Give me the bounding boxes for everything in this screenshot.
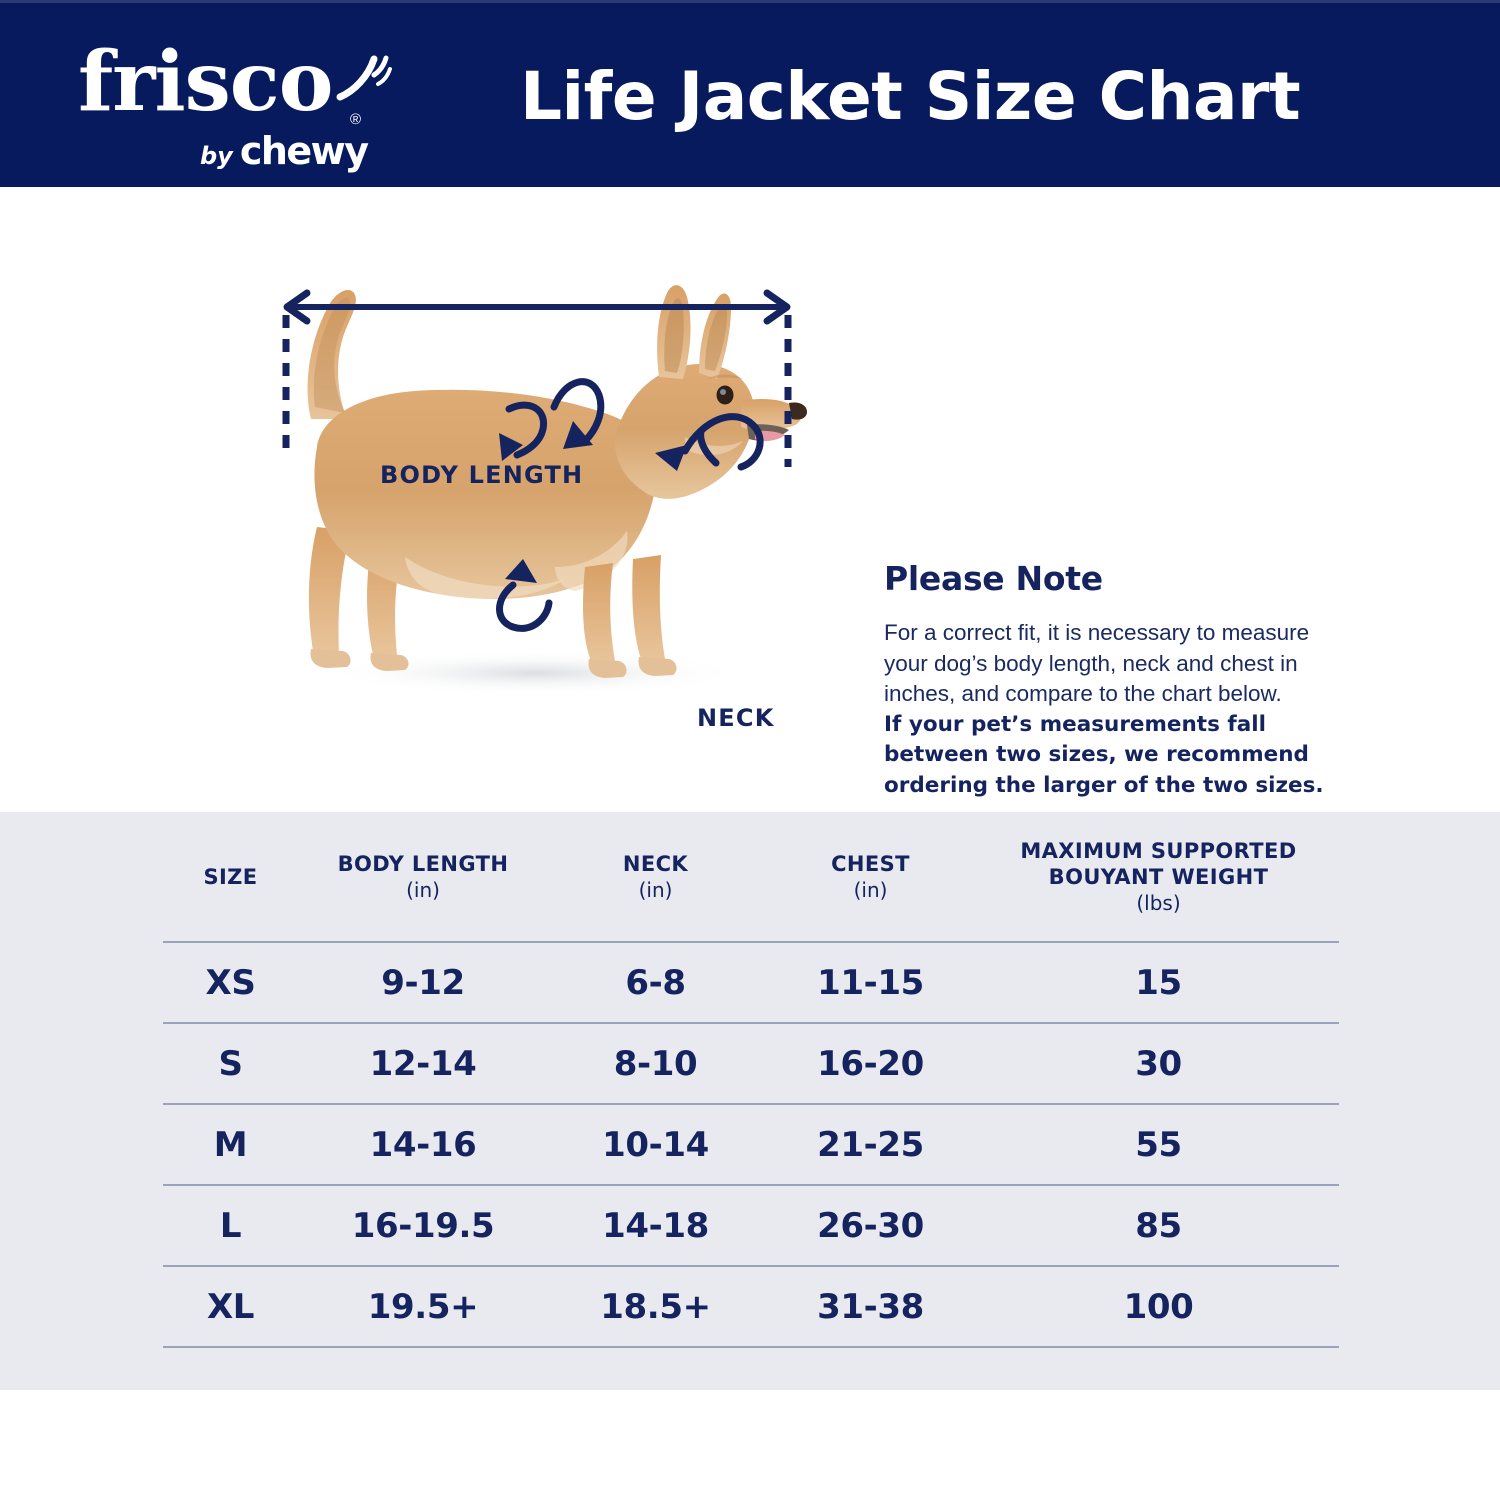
cell-chest: 21-25 — [763, 1104, 978, 1185]
logo-byline-prefix: by — [200, 142, 233, 170]
cell-body-length: 19.5+ — [298, 1266, 548, 1347]
logo-wordmark-text: frisco — [78, 39, 332, 125]
logo-tail-flourish-icon — [334, 51, 392, 103]
label-body-length: BODY LENGTH — [380, 461, 583, 489]
column-header-body-length: BODY LENGTH (in) — [298, 812, 548, 942]
size-table-body: XS 9-12 6-8 11-15 15 S 12-14 8-10 16-20 … — [163, 942, 1339, 1347]
column-header-size: SIZE — [163, 812, 298, 942]
cell-neck: 18.5+ — [548, 1266, 763, 1347]
logo-byline-brand: chewy — [240, 129, 368, 173]
table-row: XS 9-12 6-8 11-15 15 — [163, 942, 1339, 1023]
registered-trademark-icon: ® — [350, 111, 361, 128]
cell-body-length: 16-19.5 — [298, 1185, 548, 1266]
cell-body-length: 14-16 — [298, 1104, 548, 1185]
cell-body-length: 9-12 — [298, 942, 548, 1023]
column-header-max-weight-label: MAXIMUM SUPPORTED BOUYANT WEIGHT — [1020, 839, 1296, 889]
logo-byline: by chewy — [200, 129, 368, 173]
cell-size: S — [163, 1023, 298, 1104]
please-note-panel: Please Note For a correct fit, it is nec… — [884, 559, 1334, 801]
cell-max-weight: 100 — [978, 1266, 1339, 1347]
page-title: Life Jacket Size Chart — [520, 59, 1420, 135]
column-header-neck: NECK (in) — [548, 812, 763, 942]
cell-size: L — [163, 1185, 298, 1266]
please-note-heading: Please Note — [884, 559, 1334, 599]
column-header-max-weight: MAXIMUM SUPPORTED BOUYANT WEIGHT (lbs) — [978, 812, 1339, 942]
cell-chest: 11-15 — [763, 942, 978, 1023]
column-header-neck-unit: (in) — [552, 877, 759, 903]
cell-neck: 6-8 — [548, 942, 763, 1023]
size-chart-table: SIZE BODY LENGTH (in) NECK (in) CHEST (i… — [163, 812, 1339, 1348]
table-row: M 14-16 10-14 21-25 55 — [163, 1104, 1339, 1185]
table-row: S 12-14 8-10 16-20 30 — [163, 1023, 1339, 1104]
cell-chest: 31-38 — [763, 1266, 978, 1347]
dog-measurement-illustration — [255, 267, 815, 717]
table-header-row: SIZE BODY LENGTH (in) NECK (in) CHEST (i… — [163, 812, 1339, 942]
frisco-by-chewy-logo: frisco ® by chewy — [78, 39, 378, 169]
please-note-body: For a correct fit, it is necessary to me… — [884, 618, 1334, 801]
dog-diagram-svg — [255, 267, 815, 717]
cell-max-weight: 30 — [978, 1023, 1339, 1104]
cell-max-weight: 55 — [978, 1104, 1339, 1185]
cell-max-weight: 15 — [978, 942, 1339, 1023]
please-note-emphasis-text: If your pet’s measurements fall between … — [884, 710, 1334, 802]
cell-size: M — [163, 1104, 298, 1185]
cell-chest: 26-30 — [763, 1185, 978, 1266]
cell-neck: 10-14 — [548, 1104, 763, 1185]
column-header-size-label: SIZE — [203, 865, 257, 889]
column-header-neck-label: NECK — [623, 852, 688, 876]
column-header-chest-label: CHEST — [831, 852, 910, 876]
cell-neck: 8-10 — [548, 1023, 763, 1104]
cell-size: XS — [163, 942, 298, 1023]
cell-body-length: 12-14 — [298, 1023, 548, 1104]
cell-size: XL — [163, 1266, 298, 1347]
table-row: L 16-19.5 14-18 26-30 85 — [163, 1185, 1339, 1266]
please-note-body-text: For a correct fit, it is necessary to me… — [884, 620, 1309, 706]
table-row: XL 19.5+ 18.5+ 31-38 100 — [163, 1266, 1339, 1347]
size-table-header: SIZE BODY LENGTH (in) NECK (in) CHEST (i… — [163, 812, 1339, 942]
column-header-max-weight-unit: (lbs) — [982, 890, 1335, 916]
column-header-body-length-label: BODY LENGTH — [338, 852, 509, 876]
column-header-body-length-unit: (in) — [302, 877, 544, 903]
cell-chest: 16-20 — [763, 1023, 978, 1104]
column-header-chest-unit: (in) — [767, 877, 974, 903]
cell-neck: 14-18 — [548, 1185, 763, 1266]
size-chart-page: frisco ® by chewy Life Jacket Size Chart — [0, 0, 1500, 1500]
cell-max-weight: 85 — [978, 1185, 1339, 1266]
column-header-chest: CHEST (in) — [763, 812, 978, 942]
header-banner: frisco ® by chewy Life Jacket Size Chart — [0, 0, 1500, 187]
size-table-band: SIZE BODY LENGTH (in) NECK (in) CHEST (i… — [0, 812, 1500, 1390]
label-neck: NECK — [697, 704, 775, 732]
measurement-diagram-section: BODY LENGTH NECK CHEST Please Note For a… — [0, 187, 1500, 812]
